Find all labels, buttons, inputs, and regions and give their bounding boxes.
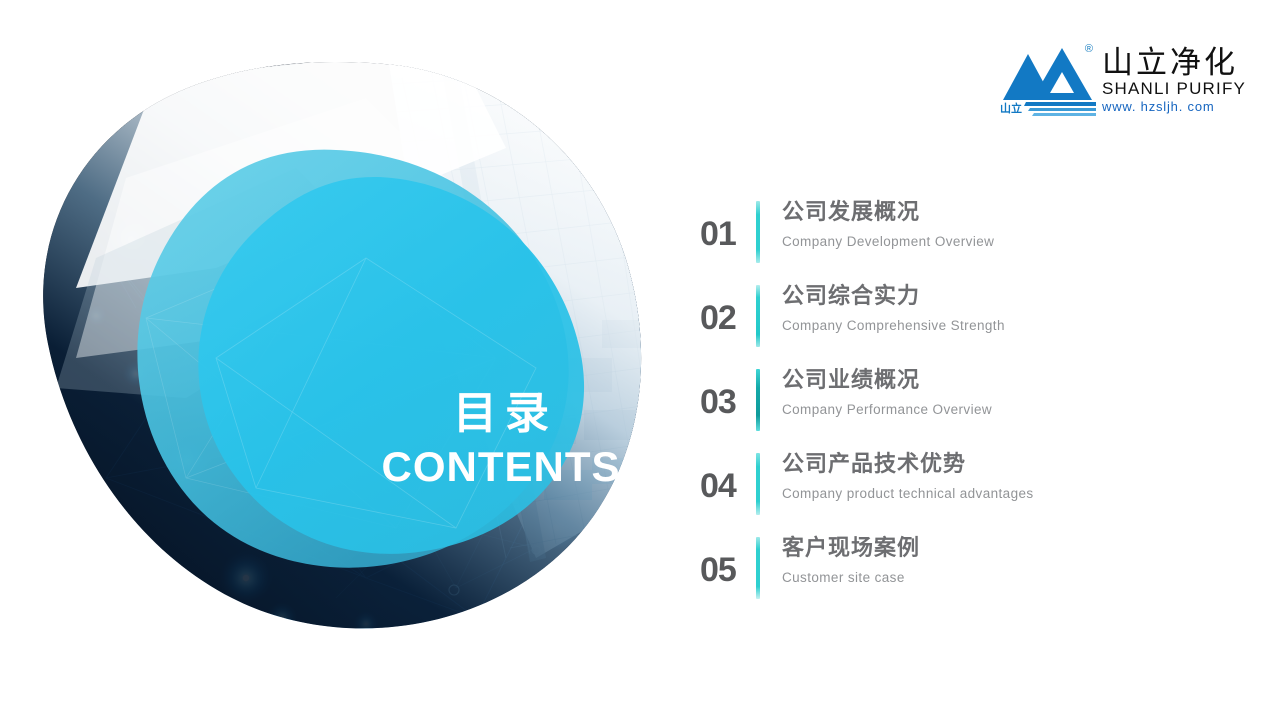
item-accent-bar-05 bbox=[756, 537, 760, 599]
item-title-cn-04: 公司产品技术优势 bbox=[782, 449, 1220, 479]
item-number-03: 03 bbox=[700, 364, 756, 422]
registered-trademark-icon: ® bbox=[1085, 44, 1093, 55]
logo-company-name-cn: 山立净化 bbox=[1102, 46, 1238, 80]
item-title-cn-05: 客户现场案例 bbox=[782, 533, 1220, 563]
contents-list: 01 公司发展概况 Company Development Overview 0… bbox=[700, 196, 1220, 616]
item-title-cn-02: 公司综合实力 bbox=[782, 281, 1220, 311]
item-number-02: 02 bbox=[700, 280, 756, 338]
item-title-cn-03: 公司业绩概况 bbox=[782, 365, 1220, 395]
item-title-en-04: Company product technical advantages bbox=[782, 483, 1220, 505]
contents-item-03[interactable]: 03 公司业绩概况 Company Performance Overview bbox=[700, 364, 1220, 448]
contents-item-05[interactable]: 05 客户现场案例 Customer site case bbox=[700, 532, 1220, 616]
item-title-en-03: Company Performance Overview bbox=[782, 399, 1220, 421]
logo-website-url: www. hzsljh. com bbox=[1102, 99, 1215, 114]
logo-wordmark: 山立净化 SHANLI PURIFY www. hzsljh. com bbox=[1102, 38, 1246, 114]
contents-item-02[interactable]: 02 公司综合实力 Company Comprehensive Strength bbox=[700, 280, 1220, 364]
logo-company-name-en: SHANLI PURIFY bbox=[1102, 80, 1246, 98]
company-logo: ® 山立 山立净化 SHANLI PURIFY www. hzsljh. com bbox=[1000, 38, 1230, 118]
item-accent-bar-01 bbox=[756, 201, 760, 263]
item-accent-bar-02 bbox=[756, 285, 760, 347]
item-text-group-02: 公司综合实力 Company Comprehensive Strength bbox=[782, 280, 1220, 337]
item-number-01: 01 bbox=[700, 196, 756, 254]
item-number-04: 04 bbox=[700, 448, 756, 506]
item-text-group-01: 公司发展概况 Company Development Overview bbox=[782, 196, 1220, 253]
item-number-05: 05 bbox=[700, 532, 756, 590]
item-title-cn-01: 公司发展概况 bbox=[782, 197, 1220, 227]
item-accent-bar-04 bbox=[756, 453, 760, 515]
item-accent-bar-03 bbox=[756, 369, 760, 431]
item-title-en-05: Customer site case bbox=[782, 567, 1220, 589]
contents-artwork: 目录 CONTENTS bbox=[36, 58, 656, 640]
contents-item-04[interactable]: 04 公司产品技术优势 Company product technical ad… bbox=[700, 448, 1220, 532]
item-text-group-03: 公司业绩概况 Company Performance Overview bbox=[782, 364, 1220, 421]
item-title-en-02: Company Comprehensive Strength bbox=[782, 315, 1220, 337]
slide-canvas: ® 山立 山立净化 SHANLI PURIFY www. hzsljh. com bbox=[0, 0, 1280, 720]
contents-item-01[interactable]: 01 公司发展概况 Company Development Overview bbox=[700, 196, 1220, 280]
logo-mark-caption: 山立 bbox=[1000, 104, 1022, 115]
item-text-group-04: 公司产品技术优势 Company product technical advan… bbox=[782, 448, 1220, 505]
item-text-group-05: 客户现场案例 Customer site case bbox=[782, 532, 1220, 589]
item-title-en-01: Company Development Overview bbox=[782, 231, 1220, 253]
shanli-mountain-logo-icon: ® 山立 bbox=[1000, 38, 1100, 116]
